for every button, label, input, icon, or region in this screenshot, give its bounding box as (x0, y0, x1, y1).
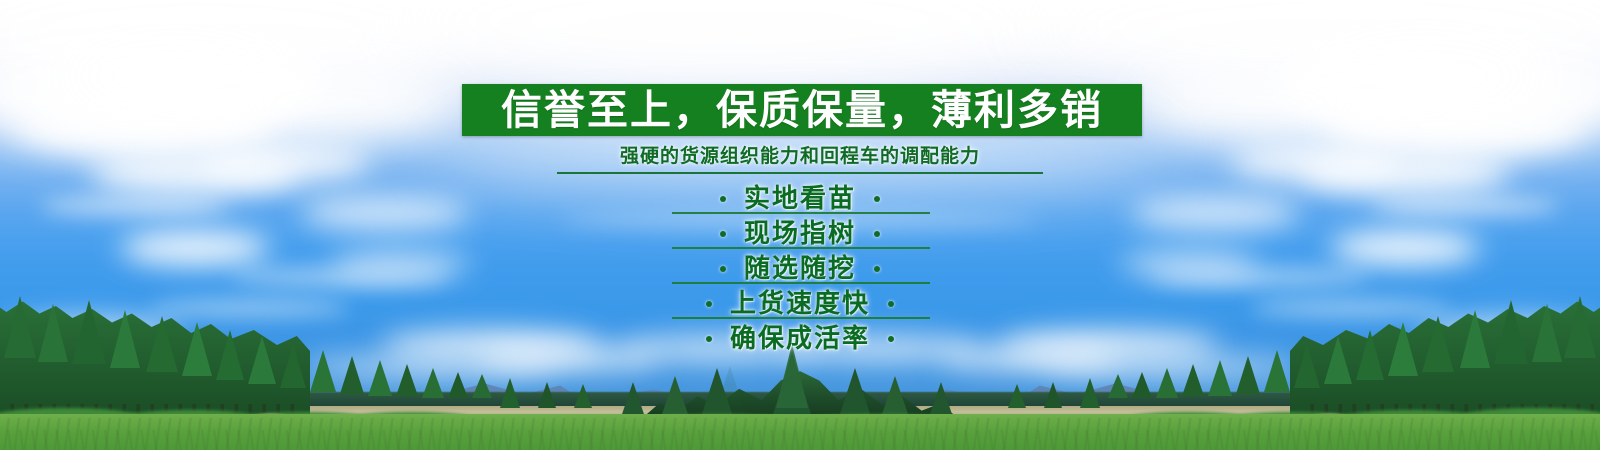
bullet-dot-icon (888, 336, 894, 342)
feature-item: 上货速度快 (0, 286, 1600, 321)
feature-item: 确保成活率 (0, 321, 1600, 356)
bullet-dot-icon (720, 196, 726, 202)
bullet-dot-icon (720, 231, 726, 237)
feature-label: 现场指树 (744, 221, 856, 247)
bullet-dot-icon (706, 301, 712, 307)
bullet-dot-icon (874, 266, 880, 272)
bullet-dot-icon (720, 266, 726, 272)
subtitle-underline (557, 172, 1043, 174)
feature-label: 实地看苗 (744, 186, 856, 212)
bullet-dot-icon (874, 231, 880, 237)
feature-label: 确保成活率 (730, 326, 870, 352)
bullet-dot-icon (874, 196, 880, 202)
bullet-dot-icon (706, 336, 712, 342)
feature-label: 上货速度快 (730, 291, 870, 317)
feature-underline (672, 317, 930, 319)
feature-underline (672, 212, 930, 214)
promotional-banner: 信誉至上，保质保量，薄利多销 强硬的货源组织能力和回程车的调配能力 实地看苗 现… (0, 0, 1600, 450)
headline-text: 信誉至上，保质保量，薄利多销 (501, 90, 1103, 131)
feature-item: 实地看苗 (0, 181, 1600, 216)
feature-underline (672, 247, 930, 249)
subtitle-text: 强硬的货源组织能力和回程车的调配能力 (0, 146, 1600, 168)
feature-list: 实地看苗 现场指树 随选随挖 (0, 181, 1600, 356)
bullet-dot-icon (888, 301, 894, 307)
feature-item: 现场指树 (0, 216, 1600, 251)
headline-banner-bar: 信誉至上，保质保量，薄利多销 (462, 84, 1142, 136)
banner-content: 信誉至上，保质保量，薄利多销 强硬的货源组织能力和回程车的调配能力 实地看苗 现… (0, 0, 1600, 450)
feature-label: 随选随挖 (744, 256, 856, 282)
feature-underline (672, 282, 930, 284)
feature-item: 随选随挖 (0, 251, 1600, 286)
